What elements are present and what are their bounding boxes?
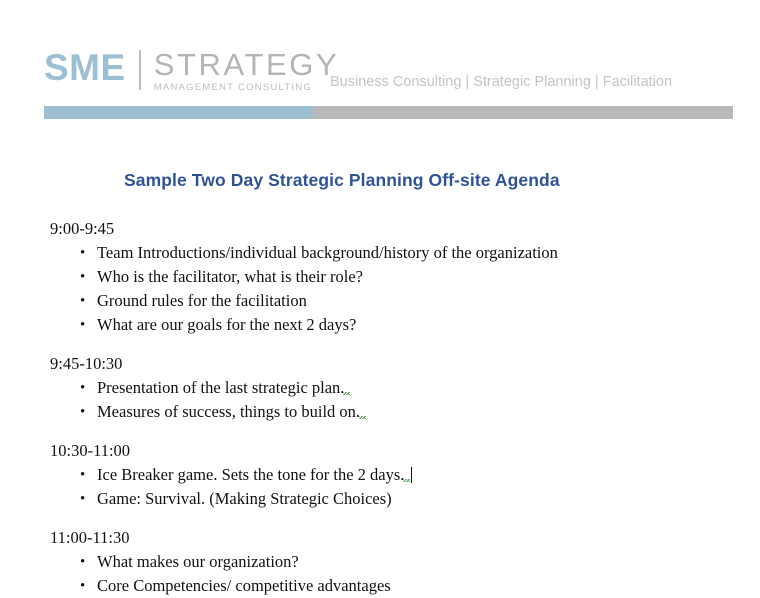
agenda-item-text: Who is the facilitator, what is their ro… [97,267,363,286]
letterhead-rule-bar [44,106,733,119]
logo-strategy-block: STRATEGY MANAGEMENT CONSULTING [154,48,340,93]
company-logo: SME STRATEGY MANAGEMENT CONSULTING [44,48,339,93]
agenda-item: •What makes our organization? [50,550,760,574]
agenda-block: 9:45-10:30•Presentation of the last stra… [50,353,760,424]
logo-subtitle: MANAGEMENT CONSULTING [154,83,340,93]
rule-bar-blue-segment [44,106,313,119]
agenda-item-text: Ice Breaker game. Sets the tone for the … [97,465,404,484]
agenda-item: •Game: Survival. (Making Strategic Choic… [50,487,760,511]
bullet-icon: • [80,487,85,511]
agenda-item-text: Core Competencies/ competitive advantage… [97,576,391,595]
bullet-icon: • [80,376,85,400]
logo-divider [139,50,141,90]
agenda-item-list: •What makes our organization?•Core Compe… [50,550,760,598]
letterhead: SME STRATEGY MANAGEMENT CONSULTING Busin… [0,0,760,124]
rule-bar-grey-segment [313,106,733,119]
agenda-item-text: Measures of success, things to build on. [97,402,360,421]
agenda-item-list: •Ice Breaker game. Sets the tone for the… [50,463,760,511]
grammar-check-squiggle [359,416,366,419]
agenda-item: •Presentation of the last strategic plan… [50,376,760,400]
agenda-item: •Core Competencies/ competitive advantag… [50,574,760,598]
agenda-block: 11:00-11:30•What makes our organization?… [50,527,760,598]
agenda-block: 10:30-11:00•Ice Breaker game. Sets the t… [50,440,760,511]
agenda-item: •Ice Breaker game. Sets the tone for the… [50,463,760,487]
company-tagline: Business Consulting | Strategic Planning… [330,74,672,90]
agenda-item-text: Game: Survival. (Making Strategic Choice… [97,489,392,508]
agenda-item: •Ground rules for the facilitation [50,289,760,313]
document-body: Sample Two Day Strategic Planning Off-si… [0,170,760,598]
page-title: Sample Two Day Strategic Planning Off-si… [0,170,760,191]
bullet-icon: • [80,574,85,598]
bullet-icon: • [80,313,85,337]
agenda-item: •What are our goals for the next 2 days? [50,313,760,337]
agenda-item-text: Ground rules for the facilitation [97,291,307,310]
bullet-icon: • [80,550,85,574]
bullet-icon: • [80,241,85,265]
agenda-item-text: Team Introductions/individual background… [97,243,558,262]
agenda-item-list: •Presentation of the last strategic plan… [50,376,760,424]
text-cursor-caret [411,467,412,483]
agenda-time-heading: 9:45-10:30 [50,353,760,374]
agenda-item: •Who is the facilitator, what is their r… [50,265,760,289]
logo-strategy-wordmark: STRATEGY [154,48,340,81]
agenda-list: 9:00-9:45•Team Introductions/individual … [0,218,760,598]
bullet-icon: • [80,463,85,487]
agenda-time-heading: 9:00-9:45 [50,218,760,239]
agenda-time-heading: 10:30-11:00 [50,440,760,461]
agenda-item-text: Presentation of the last strategic plan. [97,378,344,397]
agenda-item: •Measures of success, things to build on… [50,400,760,424]
agenda-item-text: What are our goals for the next 2 days? [97,315,356,334]
grammar-check-squiggle [403,479,410,482]
bullet-icon: • [80,400,85,424]
bullet-icon: • [80,289,85,313]
agenda-item-list: •Team Introductions/individual backgroun… [50,241,760,337]
grammar-check-squiggle [343,392,350,395]
agenda-time-heading: 11:00-11:30 [50,527,760,548]
logo-sme-wordmark: SME [44,48,126,88]
agenda-block: 9:00-9:45•Team Introductions/individual … [50,218,760,337]
bullet-icon: • [80,265,85,289]
agenda-item: •Team Introductions/individual backgroun… [50,241,760,265]
